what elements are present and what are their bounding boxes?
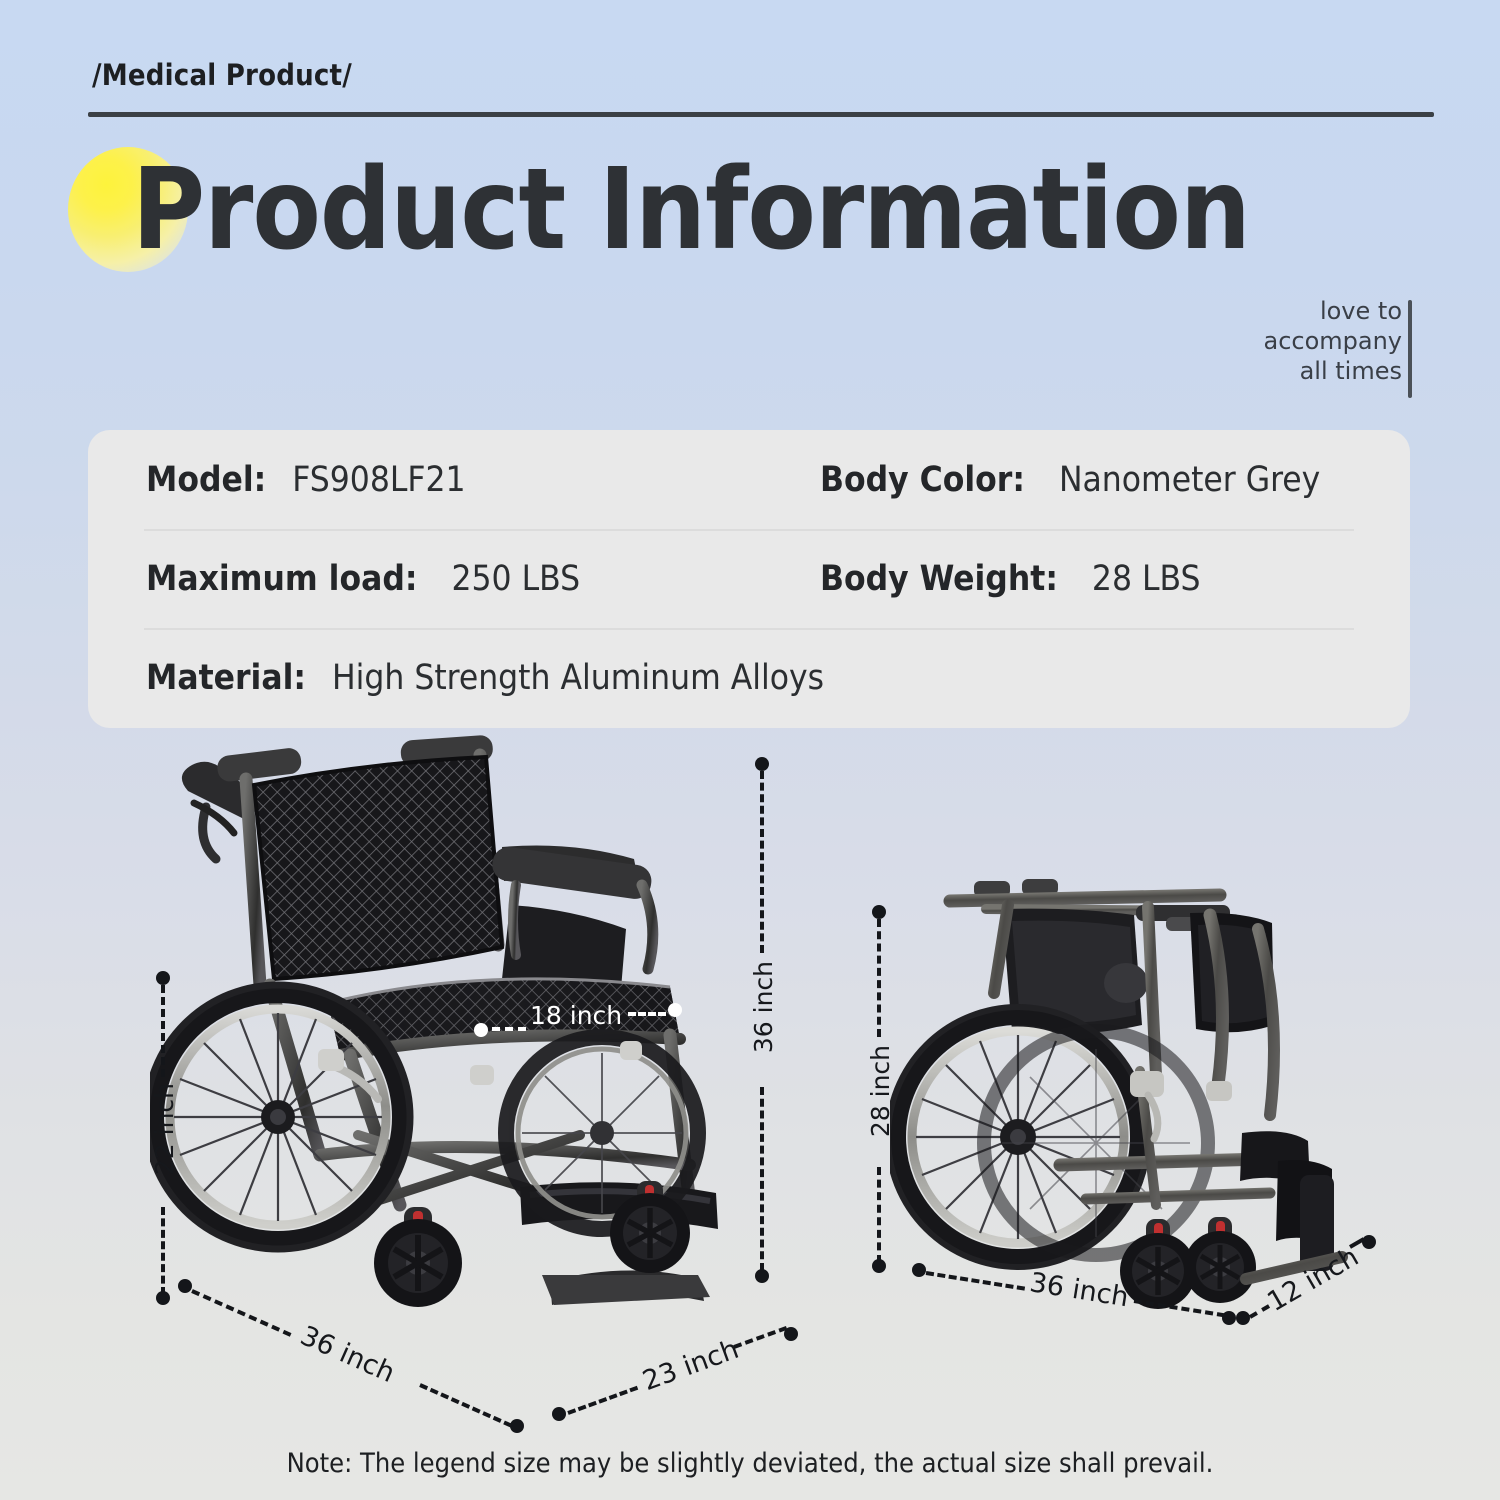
spec-maximum-load: Maximum load: 250 LBS [88, 559, 808, 599]
dimension-label: 12 inch [1262, 1241, 1364, 1318]
dimension-dash [1249, 1304, 1270, 1318]
spec-label: Body Color: [820, 460, 1025, 500]
tagline-line-3: all times [1263, 356, 1402, 386]
spec-label: Material: [146, 658, 306, 698]
dimension-endpoint-dot [156, 971, 170, 985]
dimension-endpoint-dot [1362, 1235, 1376, 1249]
spec-material: Material: High Strength Aluminum Alloys [88, 658, 808, 698]
page-title: Product Information [132, 143, 1250, 277]
dimension-endpoint-dot [872, 1259, 886, 1273]
header-divider [88, 112, 1434, 117]
dimension-endpoint-dot [510, 1419, 524, 1433]
dimension-folded-width: 12 inch [1236, 1247, 1376, 1337]
tagline-rule [1408, 300, 1412, 398]
dimension-dash [628, 1012, 666, 1016]
footer-note: Note: The legend size may be slightly de… [0, 1448, 1500, 1479]
dimension-label: 36 inch [749, 961, 778, 1053]
dimension-dash [567, 1386, 638, 1415]
spec-label: Maximum load: [146, 559, 417, 599]
dimension-dash [161, 1207, 165, 1295]
dimension-label: 36 inch [1028, 1267, 1131, 1313]
dimension-open-width: 23 inch [552, 1313, 802, 1433]
dimension-label: 23 inch [639, 1334, 743, 1397]
spec-value: 28 LBS [1092, 559, 1201, 599]
dimension-open-depth: 36 inch [178, 1275, 528, 1435]
dimension-endpoint-dot [668, 1003, 682, 1017]
dimension-dash [926, 1271, 1025, 1291]
dimension-dash [877, 1167, 881, 1263]
dimension-endpoint-dot [156, 1291, 170, 1305]
dimension-endpoint-dot [912, 1263, 926, 1277]
dimension-endpoint-dot [178, 1279, 192, 1293]
dimension-endpoint-dot [755, 757, 769, 771]
product-gallery: 18 inch 22 inch 36 inch 36 inch 23 inch [0, 735, 1500, 1435]
spec-card: Model: FS908LF21 Body Color: Nanometer G… [88, 430, 1410, 728]
dimension-endpoint-dot [552, 1407, 566, 1421]
spec-row: Maximum load: 250 LBS Body Weight: 28 LB… [88, 529, 1410, 628]
dimension-endpoint-dot [474, 1023, 488, 1037]
spec-value: FS908LF21 [292, 460, 465, 500]
page-title-block: Product Information [92, 143, 1272, 283]
dimension-dash [419, 1383, 512, 1427]
tagline: love to accompany all times [1263, 296, 1402, 386]
dimension-endpoint-dot [784, 1327, 798, 1341]
tagline-line-1: love to [1263, 296, 1402, 326]
tagline-line-2: accompany [1263, 326, 1402, 356]
dimension-dash [492, 1027, 526, 1031]
dimension-label: 36 inch [296, 1320, 400, 1389]
dimension-endpoint-dot [1236, 1311, 1250, 1325]
spec-model: Model: FS908LF21 [88, 460, 808, 500]
spec-row: Model: FS908LF21 Body Color: Nanometer G… [88, 430, 1410, 529]
dimension-label: 18 inch [530, 1001, 622, 1030]
dimension-dash [760, 1087, 764, 1271]
spec-label: Body Weight: [820, 559, 1058, 599]
dimension-dash [1134, 1299, 1225, 1317]
spec-value: Nanometer Grey [1059, 460, 1320, 500]
dimension-dash [161, 985, 165, 1077]
dimension-dash [191, 1289, 291, 1337]
spec-value: 250 LBS [451, 559, 580, 599]
dimension-folded-length: 36 inch [912, 1263, 1242, 1353]
breadcrumb-category: /Medical Product/ [92, 58, 352, 92]
dimension-dash [760, 771, 764, 953]
dimension-dash [733, 1326, 787, 1349]
dimension-label: 28 inch [866, 1045, 895, 1137]
dimension-endpoint-dot [755, 1269, 769, 1283]
spec-value: High Strength Aluminum Alloys [332, 658, 824, 698]
spec-body-weight: Body Weight: 28 LBS [808, 559, 1201, 599]
dimension-label: 22 inch [150, 1083, 179, 1175]
spec-body-color: Body Color: Nanometer Grey [808, 460, 1320, 500]
dimension-endpoint-dot [1222, 1311, 1236, 1325]
spec-label: Model: [146, 460, 266, 500]
dimension-dash [877, 919, 881, 1037]
spec-row: Material: High Strength Aluminum Alloys [88, 628, 1410, 727]
dimension-endpoint-dot [872, 905, 886, 919]
